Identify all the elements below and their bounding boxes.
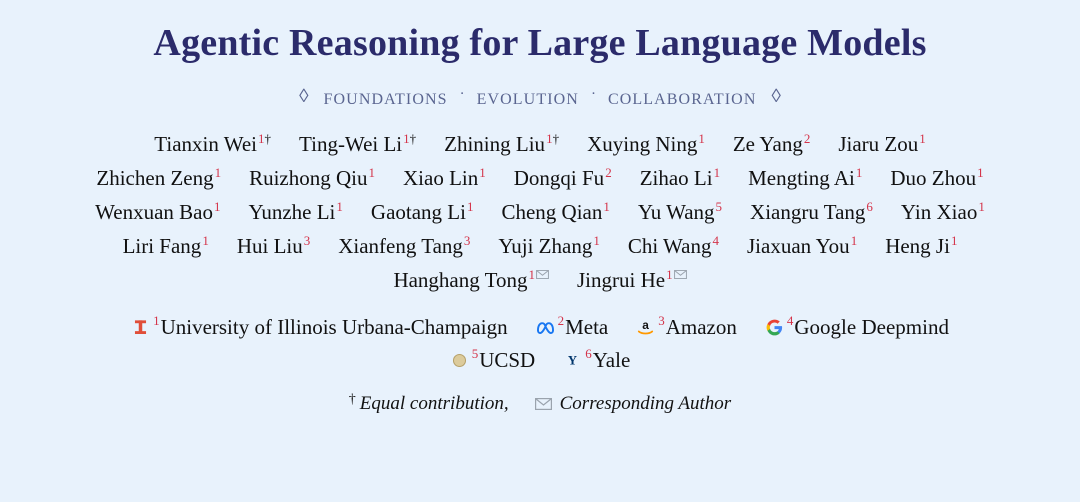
author-affiliation-superscript: 1: [215, 165, 222, 180]
author-row: Wenxuan Bao1Yunzhe Li1Gaotang Li1Cheng Q…: [81, 200, 999, 225]
author-label: Ze Yang: [733, 132, 803, 156]
affiliation-list: 1University of Illinois Urbana-Champaign…: [0, 315, 1080, 381]
author-label: Xiao Lin: [403, 166, 478, 190]
author-affiliation-superscript: 1: [528, 267, 535, 282]
uiuc-logo-icon: [131, 318, 150, 337]
subtitle-ornament-line: ◊ Foundations · Evolution · Collaboratio…: [293, 84, 787, 110]
author-name: Xiangru Tang6: [736, 200, 887, 225]
author-affiliation-superscript: 1: [593, 233, 600, 248]
author-name: Yin Xiao1: [887, 200, 999, 225]
author-affiliation-superscript: 6: [866, 199, 873, 214]
affiliation-name: Meta: [565, 315, 608, 340]
equal-contribution-dagger-icon: †: [265, 131, 272, 146]
author-affiliation-superscript: 1: [369, 165, 376, 180]
author-affiliation-superscript: 1: [214, 199, 221, 214]
amazon-logo-icon: a: [636, 318, 655, 337]
envelope-icon: [535, 398, 552, 410]
author-label: Tianxin Wei: [154, 132, 257, 156]
author-label: Heng Ji: [885, 234, 950, 258]
author-label: Ruizhong Qiu: [249, 166, 367, 190]
footnote-equal-contribution: Equal contribution,: [360, 393, 509, 415]
author-name: Chi Wang4: [614, 234, 733, 259]
author-label: Yin Xiao: [901, 200, 977, 224]
google-logo-icon: [765, 318, 784, 337]
author-affiliation-superscript: 1: [479, 165, 486, 180]
meta-logo-icon: [536, 318, 555, 337]
author-label: Hui Liu: [237, 234, 303, 258]
diamond-left-icon: ◊: [293, 86, 314, 108]
author-name: Jiaxuan You1: [733, 234, 871, 259]
author-name: Duo Zhou1: [876, 166, 997, 191]
affiliation-item: 1University of Illinois Urbana-Champaign: [117, 315, 522, 340]
affiliation-name: UCSD: [479, 348, 535, 373]
author-name: Hanghang Tong1: [379, 268, 563, 293]
author-name: Xuying Ning1: [573, 132, 719, 157]
affiliation-name: Yale: [593, 348, 631, 373]
subtitle-word-foundations: Foundations: [315, 84, 457, 110]
author-affiliation-superscript: 1: [603, 199, 610, 214]
author-label: Xianfeng Tang: [338, 234, 463, 258]
author-affiliation-superscript: 1: [919, 131, 926, 146]
affiliation-row: 5UCSDY6Yale: [436, 348, 645, 373]
author-label: Jingrui He: [577, 268, 665, 292]
author-name: Ze Yang2: [719, 132, 825, 157]
author-name: Cheng Qian1: [487, 200, 623, 225]
diamond-right-icon: ◊: [765, 86, 786, 108]
equal-contribution-dagger-icon: †: [553, 131, 560, 146]
author-name: Dongqi Fu2: [500, 166, 626, 191]
author-name: Gaotang Li1: [357, 200, 488, 225]
author-label: Yuji Zhang: [498, 234, 592, 258]
footnote-corresponding-author: Corresponding Author: [560, 393, 732, 415]
author-name: Hui Liu3: [223, 234, 324, 259]
affiliation-name: University of Illinois Urbana-Champaign: [161, 315, 508, 340]
author-label: Yu Wang: [638, 200, 715, 224]
affiliation-item: 5UCSD: [436, 348, 550, 373]
author-affiliation-superscript: 2: [605, 165, 612, 180]
author-name: Mengting Ai1: [734, 166, 876, 191]
corresponding-author-envelope-icon: [536, 268, 549, 282]
affiliation-item: 2Meta: [522, 315, 623, 340]
author-label: Xuying Ning: [587, 132, 697, 156]
author-name: Jingrui He1: [563, 268, 701, 293]
author-affiliation-superscript: 1: [851, 233, 858, 248]
author-name: Jiaru Zou1: [824, 132, 939, 157]
author-affiliation-superscript: 5: [716, 199, 723, 214]
author-name: Tianxin Wei1†: [140, 132, 285, 157]
author-name: Zihao Li1: [626, 166, 734, 191]
title-page: Agentic Reasoning for Large Language Mod…: [0, 0, 1080, 502]
author-label: Cheng Qian: [501, 200, 602, 224]
author-label: Chi Wang: [628, 234, 712, 258]
author-row: Zhichen Zeng1Ruizhong Qiu1Xiao Lin1Dongq…: [82, 166, 997, 191]
author-affiliation-superscript: 3: [304, 233, 311, 248]
author-name: Yu Wang5: [624, 200, 736, 225]
author-affiliation-superscript: 1: [977, 165, 984, 180]
author-name: Xianfeng Tang3: [324, 234, 484, 259]
page-title: Agentic Reasoning for Large Language Mod…: [153, 22, 926, 66]
svg-text:a: a: [642, 318, 649, 332]
author-row: Hanghang Tong1Jingrui He1: [379, 268, 700, 293]
affiliation-item: 4Google Deepmind: [751, 315, 963, 340]
author-affiliation-superscript: 1: [467, 199, 474, 214]
author-row: Tianxin Wei1†Ting-Wei Li1†Zhining Liu1†X…: [140, 132, 939, 157]
author-name: Yunzhe Li1: [235, 200, 357, 225]
author-name: Xiao Lin1: [389, 166, 500, 191]
subtitle-separator-1: ·: [457, 86, 468, 103]
author-label: Liri Fang: [123, 234, 202, 258]
author-affiliation-superscript: 1: [698, 131, 705, 146]
author-row: Liri Fang1Hui Liu3Xianfeng Tang3Yuji Zha…: [109, 234, 972, 259]
author-label: Zhining Liu: [444, 132, 545, 156]
author-label: Zihao Li: [640, 166, 713, 190]
author-name: Heng Ji1: [871, 234, 971, 259]
author-label: Dongqi Fu: [514, 166, 604, 190]
author-name: Ting-Wei Li1†: [285, 132, 430, 157]
author-label: Ting-Wei Li: [299, 132, 402, 156]
footnote: † Equal contribution, Corresponding Auth…: [349, 393, 731, 415]
affiliation-item: Y6Yale: [549, 348, 644, 373]
author-affiliation-superscript: 1: [336, 199, 343, 214]
subtitle-separator-2: ·: [588, 86, 599, 103]
yale-logo-icon: Y: [563, 351, 582, 370]
author-affiliation-superscript: 3: [464, 233, 471, 248]
author-label: Hanghang Tong: [393, 268, 527, 292]
affiliation-item: a3Amazon: [622, 315, 751, 340]
affiliation-name: Amazon: [666, 315, 737, 340]
corresponding-author-envelope-icon: [674, 268, 687, 282]
author-affiliation-superscript: 1: [202, 233, 209, 248]
ucsd-logo-icon: [450, 351, 469, 370]
author-label: Mengting Ai: [748, 166, 855, 190]
author-label: Yunzhe Li: [249, 200, 336, 224]
author-name: Zhining Liu1†: [430, 132, 573, 157]
author-name: Yuji Zhang1: [484, 234, 613, 259]
author-affiliation-superscript: 1: [666, 267, 673, 282]
author-name: Zhichen Zeng1: [82, 166, 235, 191]
author-affiliation-superscript: 4: [713, 233, 720, 248]
author-affiliation-superscript: 1: [951, 233, 958, 248]
author-name: Ruizhong Qiu1: [235, 166, 389, 191]
subtitle-word-collaboration: Collaboration: [599, 84, 766, 110]
author-list: Tianxin Wei1†Ting-Wei Li1†Zhining Liu1†X…: [0, 132, 1080, 302]
author-label: Xiangru Tang: [750, 200, 865, 224]
author-name: Liri Fang1: [109, 234, 223, 259]
author-name: Wenxuan Bao1: [81, 200, 234, 225]
author-affiliation-superscript: 1: [978, 199, 985, 214]
author-label: Zhichen Zeng: [96, 166, 213, 190]
author-label: Wenxuan Bao: [95, 200, 213, 224]
subtitle-word-evolution: Evolution: [468, 84, 588, 110]
author-label: Gaotang Li: [371, 200, 466, 224]
equal-contribution-dagger-icon: †: [410, 131, 417, 146]
author-affiliation-superscript: 2: [804, 131, 811, 146]
affiliation-name: Google Deepmind: [794, 315, 949, 340]
author-affiliation-superscript: 1: [714, 165, 721, 180]
author-label: Jiaru Zou: [838, 132, 918, 156]
author-label: Duo Zhou: [890, 166, 976, 190]
author-affiliation-superscript: 1: [856, 165, 863, 180]
svg-text:Y: Y: [568, 353, 577, 367]
author-label: Jiaxuan You: [747, 234, 850, 258]
affiliation-row: 1University of Illinois Urbana-Champaign…: [117, 315, 963, 340]
